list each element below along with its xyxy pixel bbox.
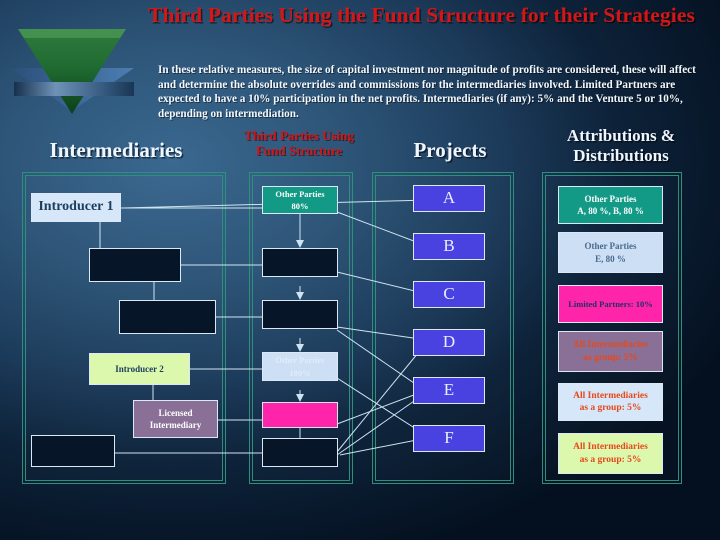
node-all-intermediaries-green[interactable]: All Intermediaries as a group: 5% xyxy=(558,433,663,474)
node-other-parties-80-line1: Other Parties xyxy=(273,188,326,201)
node-project-b[interactable]: B xyxy=(413,233,485,260)
node-limited-partners-label: Limited Partners: 10% xyxy=(566,298,655,311)
green-inverted-triangle-logo xyxy=(4,6,140,114)
node-introducer-2-label: Introducer 2 xyxy=(113,363,165,376)
node-other-parties-e-line2: E, 80 % xyxy=(593,253,628,266)
node-project-d-label: D xyxy=(441,336,457,349)
column-heading-attributions-line2: Distributions xyxy=(530,146,712,166)
node-project-e[interactable]: E xyxy=(413,377,485,404)
node-project-c-label: C xyxy=(441,288,456,301)
node-third-parties-blank-3[interactable] xyxy=(262,438,338,467)
node-third-parties-blank-1[interactable] xyxy=(262,248,338,277)
column-heading-attributions: Attributions & Distributions xyxy=(530,126,712,166)
node-third-parties-blank-2[interactable] xyxy=(262,300,338,329)
node-all-intermediaries-green-line2: as a group: 5% xyxy=(578,454,644,467)
column-heading-projects: Projects xyxy=(372,138,528,163)
node-project-f-label: F xyxy=(442,432,455,445)
node-all-intermediaries-green-line1: All Intermediaries xyxy=(571,441,650,454)
node-other-parties-a-b[interactable]: Other Parties A, 80 %, B, 80 % xyxy=(558,186,663,224)
node-project-d[interactable]: D xyxy=(413,329,485,356)
node-all-intermediaries-purple[interactable]: All Intermediaries as group: 5% xyxy=(558,331,663,372)
node-other-parties-100-line2: 100% xyxy=(287,367,312,380)
node-other-parties-e[interactable]: Other Parties E, 80 % xyxy=(558,232,663,273)
column-heading-third-parties-line2: Fund Structure xyxy=(228,143,370,158)
column-heading-third-parties: Third Parties Using Fund Structure xyxy=(228,128,370,158)
node-other-parties-100[interactable]: Other Parties 100% xyxy=(262,352,338,381)
node-introducer-1-label: Introducer 1 xyxy=(36,201,115,214)
node-other-parties-a-b-line1: Other Parties xyxy=(582,193,638,206)
node-limited-partners[interactable]: Limited Partners: 10% xyxy=(558,285,663,323)
node-introducer-1[interactable]: Introducer 1 xyxy=(31,193,121,222)
node-project-a-label: A xyxy=(441,192,457,205)
node-intermediaries-blank-1[interactable] xyxy=(89,248,181,282)
node-other-parties-100-line1: Other Parties xyxy=(273,354,326,367)
node-project-c[interactable]: C xyxy=(413,281,485,308)
node-all-intermediaries-blue[interactable]: All Intermediaries as a group: 5% xyxy=(558,383,663,421)
node-all-intermediaries-blue-line2: as a group: 5% xyxy=(578,402,644,415)
node-licensed-intermediary[interactable]: Licensed Intermediary xyxy=(133,400,218,438)
column-heading-attributions-line1: Attributions & xyxy=(530,126,712,146)
column-heading-third-parties-line1: Third Parties Using xyxy=(228,128,370,143)
node-all-intermediaries-purple-line1: All Intermediaries xyxy=(571,339,650,352)
node-intermediaries-blank-2[interactable] xyxy=(119,300,216,334)
node-all-intermediaries-purple-line2: as group: 5% xyxy=(581,352,640,365)
node-introducer-2[interactable]: Introducer 2 xyxy=(89,353,190,385)
node-project-e-label: E xyxy=(442,384,456,397)
node-other-parties-a-b-line2: A, 80 %, B, 80 % xyxy=(575,205,646,218)
slide-canvas: Third Parties Using the Fund Structure f… xyxy=(0,0,720,540)
body-paragraph: In these relative measures, the size of … xyxy=(158,63,700,121)
node-other-parties-80[interactable]: Other Parties 80% xyxy=(262,186,338,214)
node-project-a[interactable]: A xyxy=(413,185,485,212)
node-licensed-intermediary-label: Licensed Intermediary xyxy=(134,407,217,432)
node-project-b-label: B xyxy=(441,240,456,253)
page-title: Third Parties Using the Fund Structure f… xyxy=(148,2,708,28)
node-third-parties-magenta[interactable] xyxy=(262,402,338,428)
node-all-intermediaries-blue-line1: All Intermediaries xyxy=(571,390,650,403)
node-other-parties-e-line1: Other Parties xyxy=(582,240,638,253)
node-other-parties-80-line2: 80% xyxy=(290,200,311,213)
node-project-f[interactable]: F xyxy=(413,425,485,452)
column-heading-intermediaries: Intermediaries xyxy=(20,138,212,163)
node-intermediaries-blank-3[interactable] xyxy=(31,435,115,467)
